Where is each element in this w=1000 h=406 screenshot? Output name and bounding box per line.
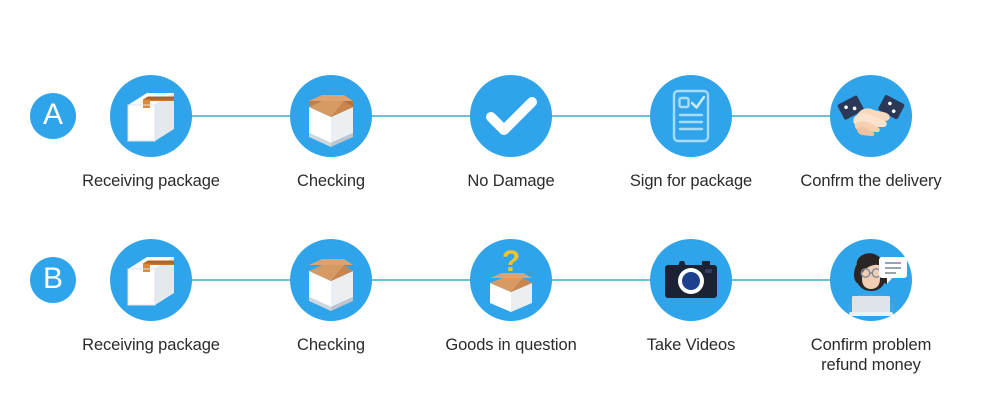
step-a-receiving-package[interactable]: Receiving package [51, 31, 251, 191]
step-icon-circle [290, 239, 372, 321]
step-icon-circle: ? [470, 239, 552, 321]
step-label: Checking [231, 171, 431, 191]
step-icon-circle [110, 239, 192, 321]
step-icon-circle [650, 239, 732, 321]
step-icon-circle [830, 239, 912, 321]
step-label: Take Videos [591, 335, 791, 355]
step-b-goods-in-question[interactable]: ? Goods in question [411, 195, 611, 355]
step-a-no-damage[interactable]: No Damage [411, 31, 611, 191]
step-label: Sign for package [591, 171, 791, 191]
step-b-take-videos[interactable]: Take Videos [591, 195, 791, 355]
step-icon-circle [110, 75, 192, 157]
step-label: Checking [231, 335, 431, 355]
step-b-receiving-package[interactable]: Receiving package [51, 195, 251, 355]
step-b-checking[interactable]: Checking [231, 195, 431, 355]
step-icon-circle [290, 75, 372, 157]
step-a-checking[interactable]: Checking [231, 31, 431, 191]
step-label: Goods in question [411, 335, 611, 355]
step-a-sign-for-package[interactable]: Sign for package [591, 31, 791, 191]
step-label: No Damage [411, 171, 611, 191]
step-label: Receiving package [51, 171, 251, 191]
step-icon-circle [470, 75, 552, 157]
flow-diagram: A Receiving packa [0, 0, 1000, 406]
step-icon-circle [830, 75, 912, 157]
step-label: Confirm problem refund money [771, 335, 971, 375]
step-label: Receiving package [51, 335, 251, 355]
step-a-confirm-delivery[interactable]: Confrm the delivery [771, 31, 971, 191]
step-b-confirm-problem-refund[interactable]: Confirm problem refund money [771, 195, 971, 375]
step-icon-circle [650, 75, 732, 157]
step-label: Confrm the delivery [771, 171, 971, 191]
flow-row-a: A Receiving packa [0, 31, 1000, 201]
flow-row-b: B Receiving packa [0, 195, 1000, 365]
